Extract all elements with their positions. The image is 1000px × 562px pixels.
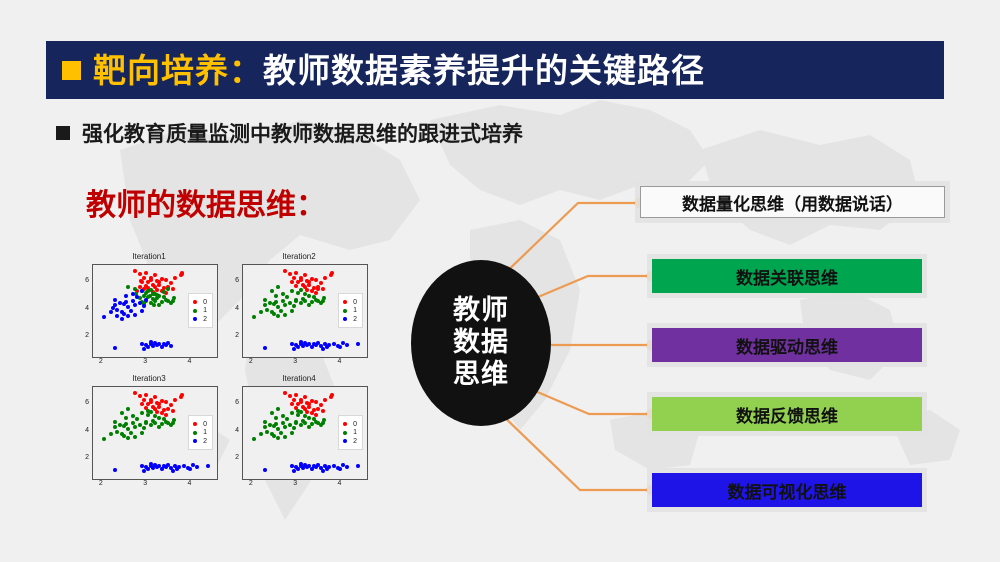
chart-point: [120, 411, 124, 415]
chart-point: [323, 398, 327, 402]
chart-point: [113, 298, 117, 302]
chart-point: [325, 345, 329, 349]
chart-title: Iteration4: [224, 374, 374, 383]
chart-point: [140, 309, 144, 313]
x-axis-tick: 2: [96, 358, 106, 365]
chart-point: [265, 308, 269, 312]
chart-point: [109, 310, 113, 314]
chart-point: [115, 314, 119, 318]
section-heading: 教师的数据思维：: [86, 180, 326, 224]
chart-point: [111, 306, 115, 310]
legend-label: 1: [353, 429, 357, 436]
chart-point: [195, 465, 199, 469]
chart-point: [164, 278, 168, 282]
chart-point: [292, 347, 296, 351]
chart-panel: Iteration4012246234: [224, 374, 374, 496]
chart-point: [303, 299, 307, 303]
chart-point: [142, 347, 146, 351]
chart-point: [292, 426, 296, 430]
legend-label: 1: [203, 429, 207, 436]
chart-plot-area: 012: [92, 386, 218, 480]
chart-point: [290, 464, 294, 468]
chart-point: [252, 437, 256, 441]
chart-point: [180, 272, 184, 276]
chart-point: [126, 436, 130, 440]
legend-swatch: [193, 309, 197, 313]
chart-point: [138, 423, 142, 427]
legend-entry: 0: [193, 299, 207, 306]
chart-point: [272, 434, 276, 438]
x-axis-tick: 4: [334, 480, 344, 487]
chart-legend: 012: [188, 415, 213, 450]
legend-entry: 2: [343, 438, 357, 445]
chart-point: [294, 421, 298, 425]
chart-plot-area: 012: [242, 386, 368, 480]
chart-point: [322, 296, 326, 300]
chart-point: [172, 418, 176, 422]
chart-point: [126, 285, 130, 289]
chart-point: [294, 284, 298, 288]
legend-swatch: [343, 300, 347, 304]
legend-swatch: [193, 439, 197, 443]
chart-point: [285, 417, 289, 421]
legend-swatch: [343, 422, 347, 426]
legend-label: 0: [203, 299, 207, 306]
chart-point: [152, 303, 156, 307]
chart-point: [294, 393, 298, 397]
chart-point: [259, 432, 263, 436]
chart-point: [263, 303, 267, 307]
chart-point: [265, 430, 269, 434]
node-box-driven[interactable]: 数据驱动思维: [652, 328, 922, 362]
chart-point: [303, 414, 307, 418]
x-axis-tick: 4: [334, 358, 344, 365]
chart-point: [322, 418, 326, 422]
y-axis-tick: 6: [228, 277, 239, 284]
chart-panel: Iteration1012246234: [74, 252, 224, 374]
chart-point: [169, 423, 173, 427]
chart-point: [268, 301, 272, 305]
chart-point: [206, 464, 210, 468]
center-node-line-3: 思维: [453, 359, 509, 391]
chart-point: [171, 287, 175, 291]
chart-point: [303, 273, 307, 277]
chart-point: [303, 395, 307, 399]
chart-point: [294, 299, 298, 303]
chart-point: [102, 315, 106, 319]
chart-point: [124, 294, 128, 298]
chart-point: [323, 276, 327, 280]
chart-point: [179, 395, 183, 399]
x-axis-tick: 2: [246, 358, 256, 365]
chart-point: [283, 391, 287, 395]
chart-legend: 012: [188, 293, 213, 328]
chart-point: [153, 414, 157, 418]
chart-point: [188, 467, 192, 471]
chart-point: [133, 269, 137, 273]
chart-point: [303, 421, 307, 425]
chart-point: [142, 304, 146, 308]
legend-label: 1: [203, 307, 207, 314]
chart-point: [272, 312, 276, 316]
chart-point: [299, 400, 303, 404]
chart-legend: 012: [338, 293, 363, 328]
chart-point: [307, 416, 311, 420]
chart-point: [120, 317, 124, 321]
y-axis-tick: 6: [78, 277, 89, 284]
square-bullet-icon: [56, 126, 70, 140]
chart-point: [338, 345, 342, 349]
node-label: 数据可视化思维: [728, 478, 847, 503]
chart-point: [131, 414, 135, 418]
chart-point: [115, 308, 119, 312]
legend-entry: 0: [343, 421, 357, 428]
chart-plot-area: 012: [242, 264, 368, 358]
chart-point: [288, 301, 292, 305]
chart-point: [294, 271, 298, 275]
chart-point: [274, 300, 278, 304]
center-node-line-1: 教师: [453, 295, 509, 327]
chart-point: [173, 398, 177, 402]
chart-point: [321, 347, 325, 351]
x-axis-tick: 3: [140, 358, 150, 365]
legend-label: 2: [203, 438, 207, 445]
chart-point: [109, 432, 113, 436]
chart-point: [307, 303, 311, 307]
chart-point: [356, 464, 360, 468]
legend-label: 2: [353, 316, 357, 323]
chart-point: [263, 346, 267, 350]
node-label: 数据关联思维: [736, 264, 838, 289]
chart-point: [299, 423, 303, 427]
chart-point: [124, 300, 128, 304]
chart-point: [319, 423, 323, 427]
chart-point: [252, 315, 256, 319]
chart-point: [279, 431, 283, 435]
chart-point: [142, 426, 146, 430]
chart-point: [288, 272, 292, 276]
chart-point: [160, 411, 164, 415]
chart-point: [162, 290, 166, 294]
chart-point: [283, 269, 287, 273]
chart-point: [140, 411, 144, 415]
chart-point: [124, 422, 128, 426]
chart-point: [113, 420, 117, 424]
chart-point: [138, 301, 142, 305]
node-box-feedback[interactable]: 数据反馈思维: [652, 397, 922, 431]
chart-point: [316, 407, 320, 411]
legend-swatch: [343, 309, 347, 313]
center-node[interactable]: 教师 数据 思维: [411, 260, 551, 426]
chart-point: [169, 344, 173, 348]
chart-point: [290, 309, 294, 313]
chart-point: [281, 292, 285, 296]
center-node-line-2: 数据: [453, 327, 509, 359]
x-axis-tick: 3: [140, 480, 150, 487]
chart-point: [146, 467, 150, 471]
subheading-label: 强化教育质量监测中教师数据思维的跟进式培养: [82, 118, 523, 148]
chart-point: [288, 394, 292, 398]
chart-point: [290, 402, 294, 406]
chart-point: [283, 303, 287, 307]
page-title-rest: 教师数据素养提升的关键路径: [263, 54, 705, 87]
y-axis-tick: 2: [228, 454, 239, 461]
chart-point: [140, 342, 144, 346]
chart-point: [303, 292, 307, 296]
legend-label: 0: [353, 299, 357, 306]
legend-entry: 0: [343, 299, 357, 306]
chart-point: [144, 393, 148, 397]
chart-point: [283, 425, 287, 429]
chart-title: Iteration1: [74, 252, 224, 261]
chart-point: [129, 431, 133, 435]
chart-point: [321, 409, 325, 413]
node-box-correlation[interactable]: 数据关联思维: [652, 259, 922, 293]
legend-swatch: [193, 422, 197, 426]
x-axis-tick: 4: [184, 480, 194, 487]
legend-entry: 1: [193, 307, 207, 314]
y-axis-tick: 6: [78, 399, 89, 406]
chart-point: [118, 423, 122, 427]
chart-point: [274, 416, 278, 420]
scatter-chart-grid: Iteration1012246234Iteration2012246234It…: [74, 252, 374, 497]
legend-label: 0: [353, 421, 357, 428]
chart-point: [157, 416, 161, 420]
chart-point: [332, 464, 336, 468]
chart-point: [142, 469, 146, 473]
chart-point: [274, 294, 278, 298]
chart-point: [285, 295, 289, 299]
chart-point: [113, 346, 117, 350]
chart-point: [131, 292, 135, 296]
node-label: 数据反馈思维: [736, 402, 838, 427]
chart-point: [171, 409, 175, 413]
chart-point: [122, 434, 126, 438]
chart-point: [290, 411, 294, 415]
chart-point: [307, 425, 311, 429]
y-axis-tick: 4: [228, 427, 239, 434]
chart-point: [173, 276, 177, 280]
chart-point: [133, 391, 137, 395]
chart-point: [263, 468, 267, 472]
chart-point: [153, 273, 157, 277]
chart-point: [288, 423, 292, 427]
chart-point: [276, 314, 280, 318]
chart-point: [166, 287, 170, 291]
chart-plot-area: 012: [92, 264, 218, 358]
legend-swatch: [343, 439, 347, 443]
chart-point: [166, 407, 170, 411]
chart-point: [149, 423, 153, 427]
legend-entry: 1: [193, 429, 207, 436]
y-axis-tick: 2: [78, 454, 89, 461]
chart-point: [133, 313, 137, 317]
legend-swatch: [193, 317, 197, 321]
y-axis-tick: 6: [228, 399, 239, 406]
legend-swatch: [193, 431, 197, 435]
chart-point: [345, 465, 349, 469]
chart-point: [171, 469, 175, 473]
chart-point: [133, 303, 137, 307]
chart-point: [157, 303, 161, 307]
chart-point: [276, 436, 280, 440]
chart-point: [146, 345, 150, 349]
chart-point: [290, 342, 294, 346]
x-axis-tick: 2: [96, 480, 106, 487]
chart-point: [338, 467, 342, 471]
chart-point: [140, 431, 144, 435]
chart-point: [153, 421, 157, 425]
chart-point: [268, 423, 272, 427]
chart-panel: Iteration2012246234: [224, 252, 374, 374]
chart-point: [314, 278, 318, 282]
chart-point: [122, 312, 126, 316]
chart-point: [138, 394, 142, 398]
chart-point: [329, 273, 333, 277]
slide-title-bar: 靶向培养： 教师数据素养提升的关键路径: [46, 41, 944, 99]
chart-point: [157, 425, 161, 429]
chart-point: [345, 343, 349, 347]
chart-point: [296, 345, 300, 349]
chart-point: [310, 289, 314, 293]
node-label: 数据驱动思维: [736, 333, 838, 358]
legend-label: 0: [203, 421, 207, 428]
chart-point: [133, 435, 137, 439]
node-label: 数据量化思维（用数据说话）: [682, 190, 903, 215]
legend-entry: 1: [343, 307, 357, 314]
square-bullet-icon: [62, 61, 81, 80]
x-axis-tick: 3: [290, 480, 300, 487]
chart-point: [169, 301, 173, 305]
chart-point: [140, 402, 144, 406]
chart-point: [126, 314, 130, 318]
chart-point: [310, 411, 314, 415]
chart-point: [133, 287, 137, 291]
node-box-quantitative[interactable]: 数据量化思维（用数据说话）: [640, 186, 945, 218]
chart-point: [299, 278, 303, 282]
slide-canvas: 靶向培养： 教师数据素养提升的关键路径 强化教育质量监测中教师数据思维的跟进式培…: [0, 0, 1000, 562]
chart-point: [299, 301, 303, 305]
chart-point: [153, 395, 157, 399]
chart-point: [164, 400, 168, 404]
chart-point: [149, 278, 153, 282]
legend-entry: 2: [193, 316, 207, 323]
chart-point: [133, 425, 137, 429]
chart-point: [144, 271, 148, 275]
chart-point: [124, 416, 128, 420]
y-axis-tick: 4: [228, 305, 239, 312]
chart-point: [146, 289, 150, 293]
chart-point: [115, 430, 119, 434]
legend-entry: 0: [193, 421, 207, 428]
legend-entry: 2: [193, 438, 207, 445]
y-axis-tick: 4: [78, 427, 89, 434]
chart-point: [321, 469, 325, 473]
legend-label: 1: [353, 307, 357, 314]
legend-swatch: [343, 431, 347, 435]
chart-point: [307, 294, 311, 298]
chart-point: [139, 279, 143, 283]
legend-entry: 1: [343, 429, 357, 436]
legend-swatch: [343, 317, 347, 321]
chart-point: [296, 467, 300, 471]
x-axis-tick: 2: [246, 480, 256, 487]
y-axis-tick: 2: [228, 332, 239, 339]
chart-point: [290, 289, 294, 293]
node-box-visualization[interactable]: 数据可视化思维: [652, 473, 922, 507]
chart-point: [332, 342, 336, 346]
chart-point: [319, 301, 323, 305]
chart-title: Iteration3: [74, 374, 224, 383]
chart-point: [140, 464, 144, 468]
x-axis-tick: 4: [184, 358, 194, 365]
chart-point: [155, 296, 159, 300]
chart-point: [292, 304, 296, 308]
chart-point: [283, 435, 287, 439]
legend-label: 2: [353, 438, 357, 445]
chart-title: Iteration2: [224, 252, 374, 261]
chart-point: [263, 420, 267, 424]
chart-point: [290, 280, 294, 284]
chart-point: [325, 467, 329, 471]
chart-point: [290, 431, 294, 435]
chart-point: [356, 342, 360, 346]
y-axis-tick: 4: [78, 305, 89, 312]
chart-point: [270, 411, 274, 415]
chart-point: [175, 467, 179, 471]
page-title-lead: 靶向培养：: [93, 54, 263, 87]
chart-point: [281, 414, 285, 418]
chart-point: [263, 298, 267, 302]
chart-point: [144, 421, 148, 425]
chart-point: [276, 285, 280, 289]
chart-point: [314, 400, 318, 404]
subheading: 强化教育质量监测中教师数据思维的跟进式培养: [56, 118, 523, 148]
chart-point: [329, 395, 333, 399]
chart-point: [274, 422, 278, 426]
chart-point: [299, 288, 303, 292]
chart-point: [126, 407, 130, 411]
legend-swatch: [193, 300, 197, 304]
chart-point: [321, 287, 325, 291]
chart-panel: Iteration3012246234: [74, 374, 224, 496]
x-axis-tick: 3: [290, 358, 300, 365]
chart-point: [292, 469, 296, 473]
chart-point: [113, 425, 117, 429]
legend-entry: 2: [343, 316, 357, 323]
chart-point: [140, 289, 144, 293]
chart-point: [118, 301, 122, 305]
chart-point: [138, 272, 142, 276]
chart-point: [172, 296, 176, 300]
chart-point: [102, 437, 106, 441]
chart-point: [283, 313, 287, 317]
y-axis-tick: 2: [78, 332, 89, 339]
legend-label: 2: [203, 316, 207, 323]
chart-point: [149, 400, 153, 404]
chart-point: [276, 407, 280, 411]
chart-point: [135, 417, 139, 421]
chart-legend: 012: [338, 415, 363, 450]
chart-point: [263, 425, 267, 429]
chart-point: [270, 289, 274, 293]
chart-point: [182, 464, 186, 468]
chart-point: [129, 309, 133, 313]
chart-point: [279, 309, 283, 313]
chart-point: [144, 298, 148, 302]
chart-point: [259, 310, 263, 314]
chart-point: [316, 287, 320, 291]
